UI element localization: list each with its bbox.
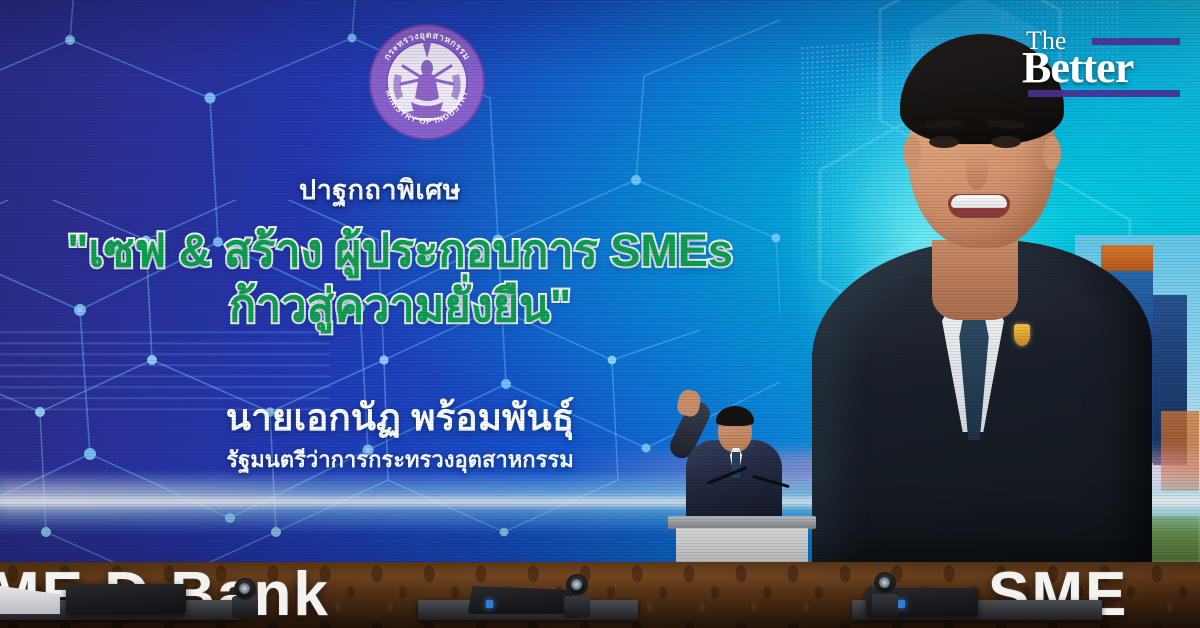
stage-speaker-mid	[468, 586, 572, 614]
watermark-better: Better	[1022, 46, 1133, 90]
event-photo: กระทรวงอุตสาหกรรม MINISTRY OF INDUSTRY ป…	[0, 0, 1200, 628]
moving-light-base-2	[564, 596, 590, 618]
moving-light-lens-3	[879, 577, 890, 588]
the-better-watermark: The Better	[1008, 24, 1180, 100]
watermark-bar-bottom	[1028, 90, 1180, 97]
equipment-led-indicator-2	[898, 600, 905, 608]
moving-light-lens-2	[571, 579, 582, 590]
stage-speaker-left	[66, 584, 186, 614]
moving-light-lens-1	[239, 583, 250, 594]
equipment-led-indicator	[486, 600, 493, 608]
moving-light-base-3	[872, 594, 898, 616]
